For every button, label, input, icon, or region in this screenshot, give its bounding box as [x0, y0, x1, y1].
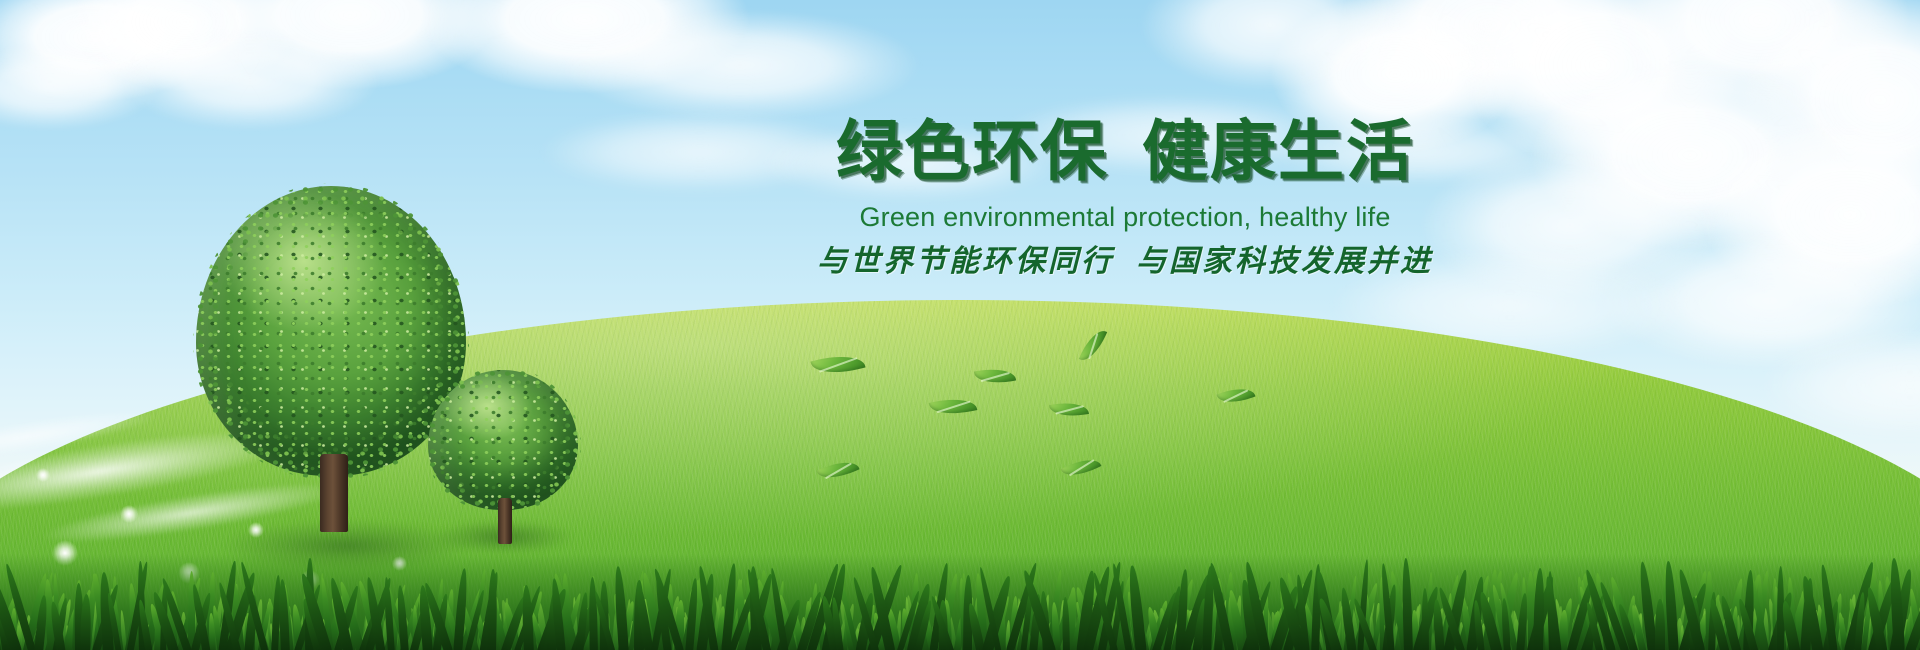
- grass-blade: [521, 585, 534, 650]
- grass-blade: [1655, 599, 1665, 650]
- cloud-puff: [1700, 120, 1920, 310]
- cloud-puff: [0, 0, 220, 102]
- grass-blade: [278, 579, 290, 650]
- cloud-puff: [0, 44, 160, 130]
- headline-part-1: 绿色环保: [836, 114, 1108, 188]
- crown-edge-foliage: [425, 367, 581, 513]
- cloud-puff: [1610, 0, 1910, 120]
- grass-blade: [589, 577, 599, 650]
- eco-banner: 绿色环保健康生活 Green environmental protection,…: [0, 0, 1920, 650]
- cloud-puff: [200, 0, 500, 90]
- cloud-puff: [1740, 0, 1920, 210]
- page-subtitle: Green environmental protection, healthy …: [765, 204, 1485, 231]
- slogan-part-1: 与世界节能环保同行: [817, 245, 1114, 278]
- small-tree-trunk: [498, 498, 512, 544]
- cloud-puff: [120, 30, 380, 130]
- small-tree-crown: [428, 370, 578, 510]
- banner-text-block: 绿色环保健康生活 Green environmental protection,…: [765, 118, 1485, 280]
- large-tree-trunk: [320, 454, 348, 532]
- grass-blade: [1402, 558, 1413, 650]
- cloud-puff: [420, 0, 750, 94]
- headline-part-2: 健康生活: [1142, 114, 1414, 188]
- page-title: 绿色环保健康生活: [765, 118, 1485, 184]
- small-tree: [428, 370, 578, 540]
- cloud-puff: [1600, 230, 1920, 370]
- grass-blades: [0, 554, 1920, 650]
- large-tree: [196, 186, 466, 546]
- cloud-puff: [1530, 60, 1850, 250]
- cloud-puff: [1460, 0, 1740, 170]
- page-slogan: 与世界节能环保同行与国家科技发展并进: [765, 245, 1485, 280]
- cloud-puff: [1340, 0, 1640, 120]
- cloud-puff: [70, 0, 300, 92]
- cloud-puff: [560, 10, 920, 120]
- cloud-puff: [1140, 0, 1400, 90]
- slogan-part-2: 与国家科技发展并进: [1136, 245, 1433, 278]
